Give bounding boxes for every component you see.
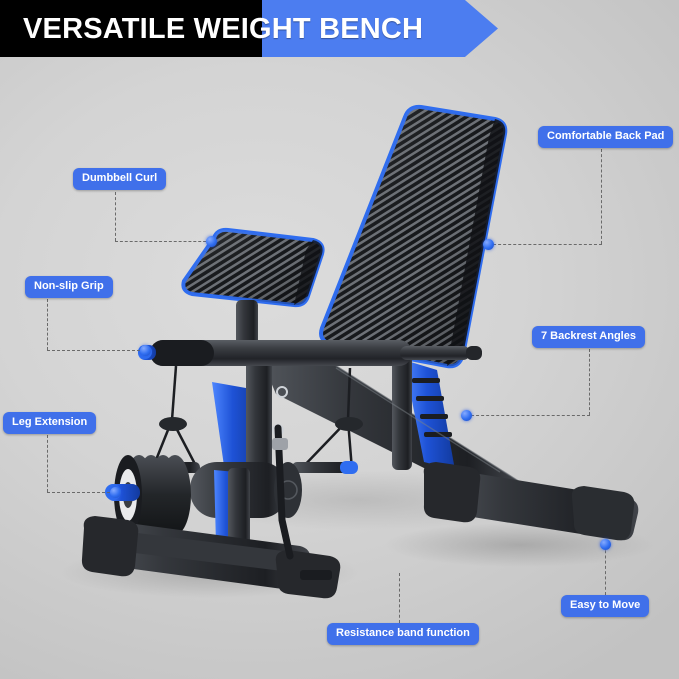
callout-easy-to-move[interactable]: Easy to Move — [561, 595, 649, 617]
anchor-dot-backrest-angles — [461, 410, 472, 421]
callout-dumbbell-curl[interactable]: Dumbbell Curl — [73, 168, 166, 190]
anchor-dot-non-slip-grip — [140, 345, 151, 356]
anchor-dot-leg-extension — [110, 487, 121, 498]
callout-comfortable-back-pad[interactable]: Comfortable Back Pad — [538, 126, 673, 148]
arm-curl-pad — [183, 230, 322, 352]
callout-leg-extension[interactable]: Leg Extension — [3, 412, 96, 434]
anchor-dot-dumbbell-curl — [206, 236, 217, 247]
anchor-dot-easy-to-move — [600, 539, 611, 550]
anchor-dot-back-pad — [483, 239, 494, 250]
backrest-angle-adjuster — [392, 352, 455, 470]
callout-backrest-angles[interactable]: 7 Backrest Angles — [532, 326, 645, 348]
product-infographic: VERSATILE WEIGHT BENCH — [0, 0, 679, 679]
callout-non-slip-grip[interactable]: Non-slip Grip — [25, 276, 113, 298]
backrest-pad — [321, 107, 505, 366]
callout-resistance-band[interactable]: Resistance band function — [327, 623, 479, 645]
